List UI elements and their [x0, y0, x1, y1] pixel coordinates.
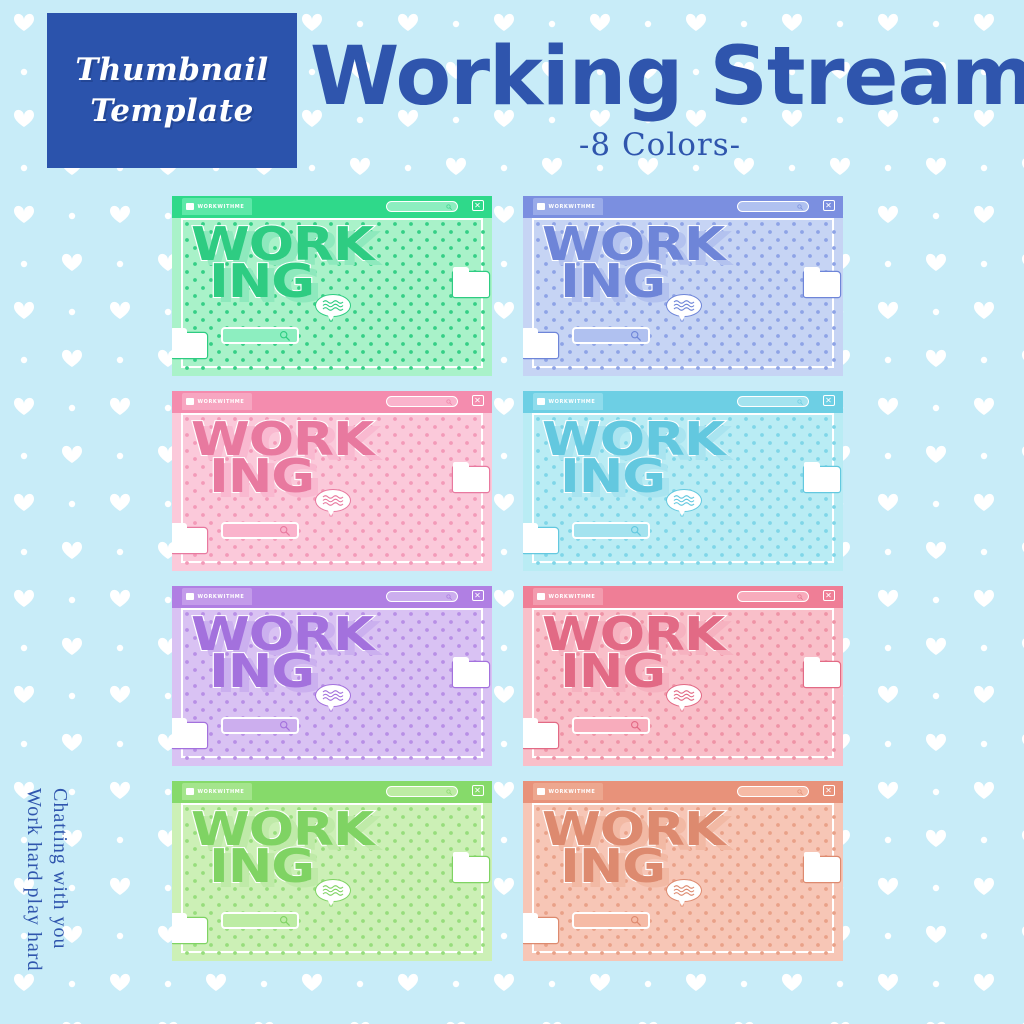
- folder-icon: [537, 203, 545, 210]
- main-search-input[interactable]: [572, 522, 650, 539]
- folder-icon-left[interactable]: [172, 723, 207, 748]
- word-line-2: ING: [560, 458, 760, 495]
- browser-window: WORKWITHME ✕: [172, 781, 492, 961]
- side-text-line-2: Work hard play hard: [22, 788, 45, 971]
- word-line-2: ING: [209, 653, 409, 690]
- window-canvas: WORK ING: [532, 608, 834, 758]
- folder-icon: [537, 593, 545, 600]
- titlebar-search-input[interactable]: [386, 201, 458, 212]
- folder-icon-right[interactable]: [804, 662, 840, 687]
- header: Thumbnail Template Working Stream -8 Col…: [0, 0, 1024, 200]
- window-titlebar: WORKWITHME ✕: [172, 586, 492, 608]
- main-search-input[interactable]: [221, 912, 299, 929]
- folder-icon-left[interactable]: [172, 333, 207, 358]
- window-tab[interactable]: WORKWITHME: [182, 588, 253, 605]
- window-tab[interactable]: WORKWITHME: [182, 393, 253, 410]
- word-line-2: ING: [209, 458, 409, 495]
- folder-icon: [537, 788, 545, 795]
- folder-icon-right[interactable]: [453, 467, 489, 492]
- search-icon: [279, 915, 290, 926]
- window-card-lime: WORKWITHME ✕: [172, 781, 492, 961]
- badge-line-1: Thumbnail: [75, 51, 268, 90]
- titlebar-search-input[interactable]: [737, 591, 809, 602]
- search-icon: [797, 594, 803, 600]
- search-icon: [797, 204, 803, 210]
- folder-icon-left[interactable]: [172, 528, 207, 553]
- side-text-line-1: Chatting with you: [48, 788, 71, 971]
- titlebar-search-input[interactable]: [737, 786, 809, 797]
- speech-bubble-icon: [315, 489, 351, 512]
- speech-bubble-icon: [666, 684, 702, 707]
- close-button[interactable]: ✕: [823, 395, 835, 406]
- window-tab[interactable]: WORKWITHME: [533, 783, 604, 800]
- wavy-lines-icon: [320, 883, 346, 898]
- working-lettering: WORK ING: [191, 421, 381, 495]
- window-card-periwinkle: WORKWITHME ✕: [523, 196, 843, 376]
- folder-icon-right[interactable]: [804, 467, 840, 492]
- search-icon: [446, 399, 452, 405]
- window-tab-label: WORKWITHME: [198, 789, 245, 795]
- word-line-2: ING: [560, 263, 760, 300]
- thumbnail-template-badge: Thumbnail Template: [47, 13, 297, 168]
- window-titlebar: WORKWITHME ✕: [172, 391, 492, 413]
- window-card-rose: WORKWITHME ✕: [523, 586, 843, 766]
- variant-grid: WORKWITHME ✕: [0, 196, 1024, 976]
- titlebar-search-input[interactable]: [737, 396, 809, 407]
- close-icon: ✕: [825, 787, 832, 795]
- folder-icon-left[interactable]: [523, 918, 558, 943]
- folder-icon: [186, 593, 194, 600]
- speech-bubble-icon: [315, 879, 351, 902]
- window-tab-label: WORKWITHME: [198, 399, 245, 405]
- titlebar-search-input[interactable]: [737, 201, 809, 212]
- search-icon: [279, 525, 290, 536]
- search-icon: [630, 525, 641, 536]
- folder-icon-right[interactable]: [804, 272, 840, 297]
- folder-icon-right[interactable]: [453, 272, 489, 297]
- window-card-pink: WORKWITHME ✕: [172, 391, 492, 571]
- wavy-lines-icon: [320, 298, 346, 313]
- speech-bubble-icon: [666, 489, 702, 512]
- page-subtitle: -8 Colors-: [310, 127, 1010, 163]
- window-tab-label: WORKWITHME: [549, 399, 596, 405]
- word-line-2: ING: [209, 263, 409, 300]
- window-tab-label: WORKWITHME: [549, 594, 596, 600]
- wavy-lines-icon: [671, 883, 697, 898]
- close-button[interactable]: ✕: [823, 590, 835, 601]
- window-canvas: WORK ING: [181, 608, 483, 758]
- folder-icon: [186, 203, 194, 210]
- working-lettering: WORK ING: [542, 421, 732, 495]
- wavy-lines-icon: [671, 688, 697, 703]
- window-canvas: WORK ING: [532, 218, 834, 368]
- close-icon: ✕: [474, 202, 481, 210]
- window-card-green: WORKWITHME ✕: [172, 196, 492, 376]
- search-icon: [797, 789, 803, 795]
- window-titlebar: WORKWITHME ✕: [523, 391, 843, 413]
- window-tab[interactable]: WORKWITHME: [182, 198, 253, 215]
- close-button[interactable]: ✕: [472, 395, 484, 406]
- window-canvas: WORK ING: [181, 413, 483, 563]
- folder-icon-right[interactable]: [804, 857, 840, 882]
- main-search-input[interactable]: [572, 327, 650, 344]
- browser-window: WORKWITHME ✕: [523, 196, 843, 376]
- search-icon: [446, 204, 452, 210]
- speech-bubble-icon: [666, 294, 702, 317]
- browser-window: WORKWITHME ✕: [523, 781, 843, 961]
- close-button[interactable]: ✕: [472, 590, 484, 601]
- folder-icon: [537, 398, 545, 405]
- window-tab[interactable]: WORKWITHME: [182, 783, 253, 800]
- window-card-purple: WORKWITHME ✕: [172, 586, 492, 766]
- search-icon: [630, 720, 641, 731]
- browser-window: WORKWITHME ✕: [172, 391, 492, 571]
- speech-bubble-icon: [315, 294, 351, 317]
- folder-icon-left[interactable]: [523, 528, 558, 553]
- window-tab-label: WORKWITHME: [549, 204, 596, 210]
- window-canvas: WORK ING: [532, 413, 834, 563]
- wavy-lines-icon: [320, 688, 346, 703]
- word-line-2: ING: [209, 848, 409, 885]
- window-tab-label: WORKWITHME: [198, 204, 245, 210]
- speech-bubble-icon: [666, 879, 702, 902]
- folder-icon-right[interactable]: [453, 662, 489, 687]
- wavy-lines-icon: [320, 493, 346, 508]
- browser-window: WORKWITHME ✕: [523, 586, 843, 766]
- folder-icon-left[interactable]: [523, 723, 558, 748]
- working-lettering: WORK ING: [542, 811, 732, 885]
- close-icon: ✕: [474, 592, 481, 600]
- main-search-input[interactable]: [572, 912, 650, 929]
- search-icon: [797, 399, 803, 405]
- speech-bubble-icon: [315, 684, 351, 707]
- folder-icon-left[interactable]: [172, 918, 207, 943]
- folder-icon: [186, 788, 194, 795]
- close-icon: ✕: [825, 397, 832, 405]
- page-title: Working Stream: [310, 36, 1010, 119]
- search-icon: [279, 720, 290, 731]
- wavy-lines-icon: [671, 298, 697, 313]
- working-lettering: WORK ING: [191, 226, 381, 300]
- word-line-2: ING: [560, 848, 760, 885]
- close-button[interactable]: ✕: [472, 785, 484, 796]
- window-tab[interactable]: WORKWITHME: [533, 198, 604, 215]
- working-lettering: WORK ING: [191, 616, 381, 690]
- window-titlebar: WORKWITHME ✕: [523, 586, 843, 608]
- close-button[interactable]: ✕: [472, 200, 484, 211]
- working-lettering: WORK ING: [191, 811, 381, 885]
- window-tab-label: WORKWITHME: [198, 594, 245, 600]
- window-tab-label: WORKWITHME: [549, 789, 596, 795]
- folder-icon-left[interactable]: [523, 333, 558, 358]
- main-search-input[interactable]: [221, 327, 299, 344]
- working-lettering: WORK ING: [542, 226, 732, 300]
- close-icon: ✕: [474, 397, 481, 405]
- close-icon: ✕: [474, 787, 481, 795]
- titlebar-search-input[interactable]: [386, 591, 458, 602]
- word-line-2: ING: [560, 653, 760, 690]
- wavy-lines-icon: [671, 493, 697, 508]
- close-button[interactable]: ✕: [823, 785, 835, 796]
- side-vertical-text: Work hard play hard Chatting with you: [22, 788, 71, 971]
- titlebar-search-input[interactable]: [386, 396, 458, 407]
- search-icon: [630, 330, 641, 341]
- working-lettering: WORK ING: [542, 616, 732, 690]
- search-icon: [630, 915, 641, 926]
- search-icon: [446, 594, 452, 600]
- main-search-input[interactable]: [572, 717, 650, 734]
- browser-window: WORKWITHME ✕: [172, 196, 492, 376]
- window-canvas: WORK ING: [532, 803, 834, 953]
- window-canvas: WORK ING: [181, 218, 483, 368]
- titlebar-search-input[interactable]: [386, 786, 458, 797]
- window-titlebar: WORKWITHME ✕: [523, 781, 843, 803]
- badge-line-2: Template: [90, 92, 254, 131]
- search-icon: [279, 330, 290, 341]
- main-search-input[interactable]: [221, 522, 299, 539]
- main-search-input[interactable]: [221, 717, 299, 734]
- title-block: Working Stream -8 Colors-: [310, 36, 1010, 163]
- window-tab[interactable]: WORKWITHME: [533, 588, 604, 605]
- close-icon: ✕: [825, 592, 832, 600]
- browser-window: WORKWITHME ✕: [523, 391, 843, 571]
- close-button[interactable]: ✕: [823, 200, 835, 211]
- window-canvas: WORK ING: [181, 803, 483, 953]
- window-card-cyan: WORKWITHME ✕: [523, 391, 843, 571]
- folder-icon: [186, 398, 194, 405]
- browser-window: WORKWITHME ✕: [172, 586, 492, 766]
- folder-icon-right[interactable]: [453, 857, 489, 882]
- window-card-coral: WORKWITHME ✕: [523, 781, 843, 961]
- window-titlebar: WORKWITHME ✕: [172, 781, 492, 803]
- close-icon: ✕: [825, 202, 832, 210]
- window-tab[interactable]: WORKWITHME: [533, 393, 604, 410]
- search-icon: [446, 789, 452, 795]
